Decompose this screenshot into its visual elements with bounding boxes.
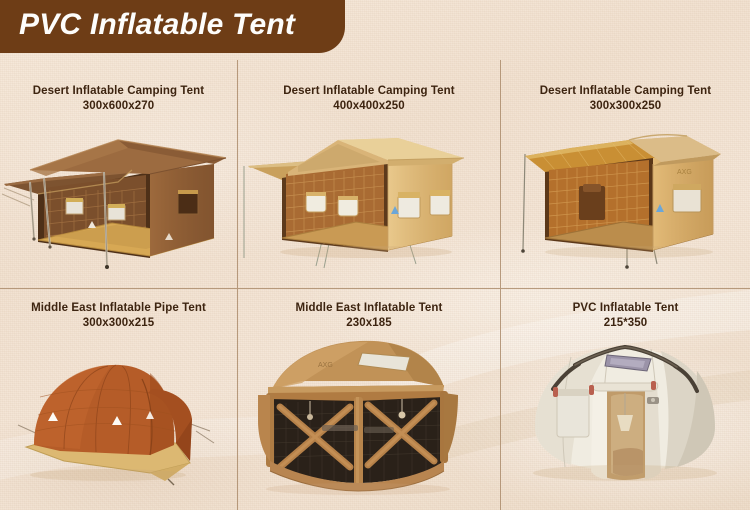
header-banner: PVC Inflatable Tent xyxy=(0,0,345,53)
product-grid xyxy=(0,0,750,510)
grid-divider-vertical xyxy=(500,60,501,288)
page-title: PVC Inflatable Tent xyxy=(19,8,295,42)
grid-divider-horizontal xyxy=(0,288,750,289)
catalog-page: PVC Inflatable Tent Desert Inflatable Ca… xyxy=(0,0,750,510)
grid-divider-vertical xyxy=(237,289,238,510)
grid-divider-vertical xyxy=(237,60,238,288)
grid-divider-vertical xyxy=(500,289,501,510)
